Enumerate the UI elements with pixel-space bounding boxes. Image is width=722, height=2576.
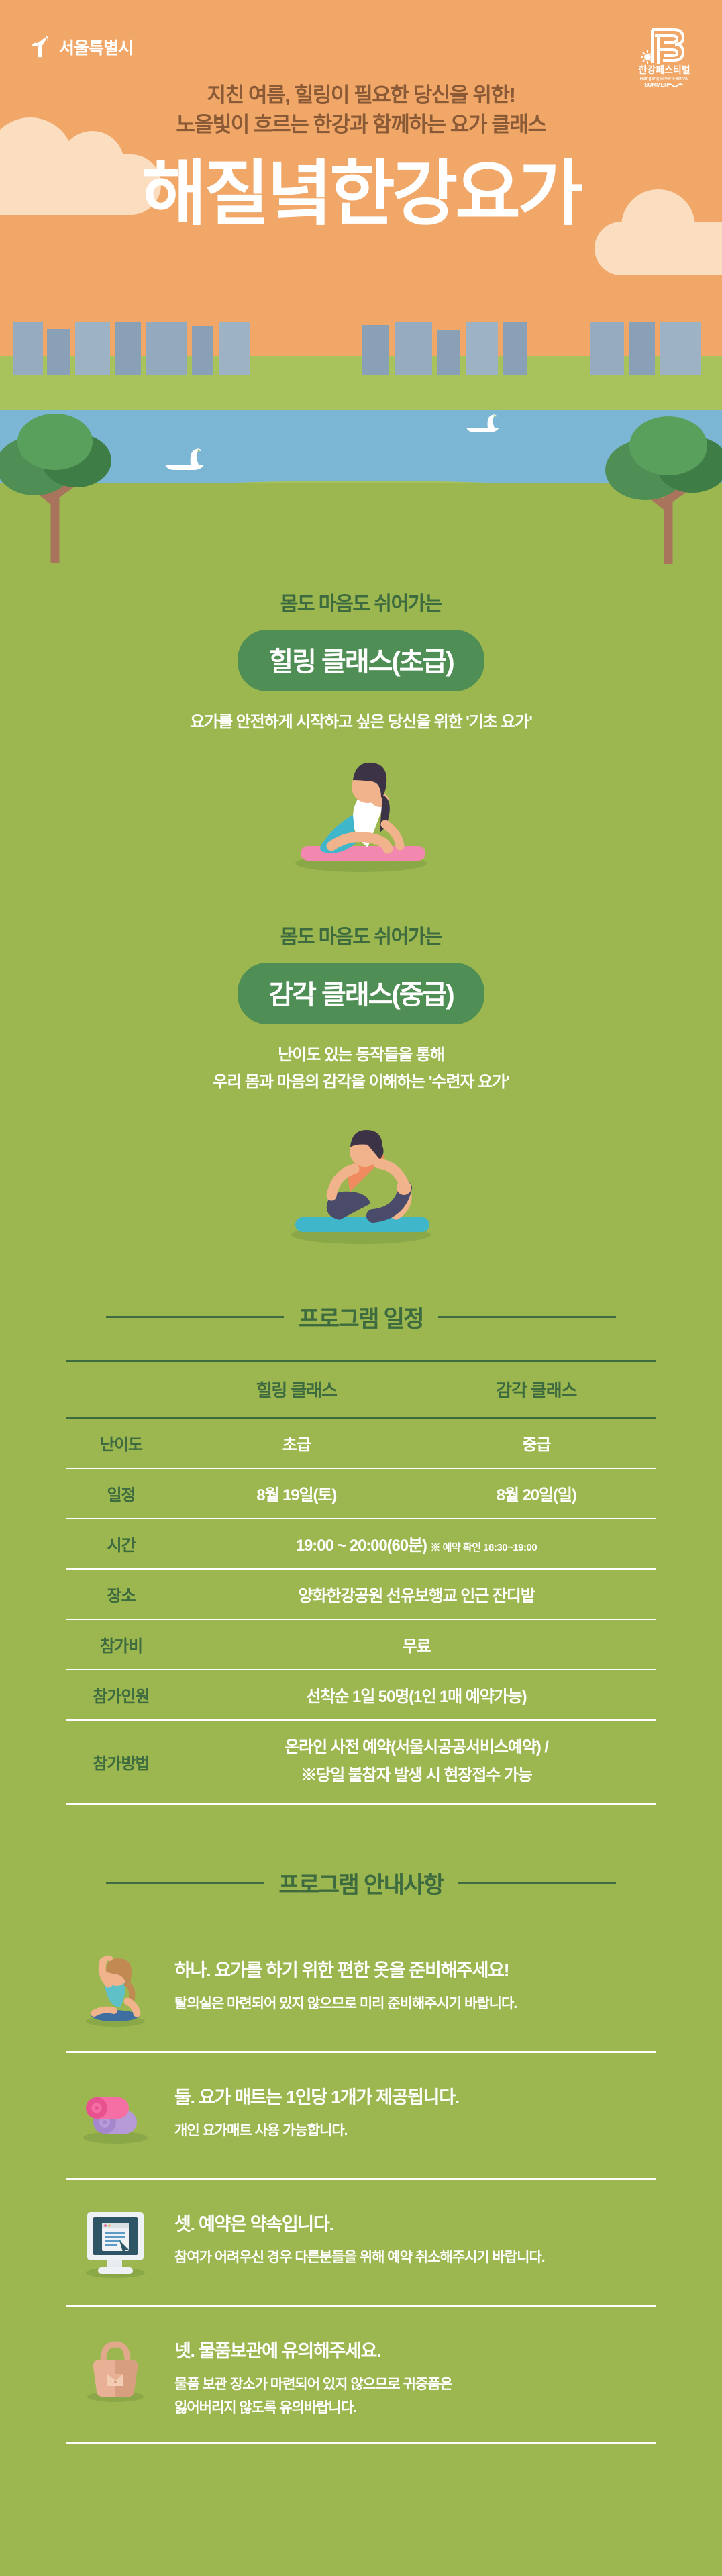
cell-value: 19:00 ~ 20:00(60분)	[296, 1537, 427, 1555]
class-desc-line: 난이도 있는 동작들을 통해	[0, 1042, 722, 1069]
notice-line: 물품 보관 장소가 마련되어 있지 않으므로 귀중품은	[174, 2373, 452, 2396]
tree-icon	[0, 395, 127, 563]
swan-boat-icon	[161, 442, 211, 471]
notice-body: 둘. 요가 매트는 1인당 1개가 제공됩니다. 개인 요가매트 사용 가능합니…	[174, 2076, 459, 2142]
col-header-blank	[66, 1362, 176, 1418]
cell-value-line2: ※당일 불참자 발생 시 현장접수 가능	[180, 1762, 652, 1790]
building	[503, 322, 527, 375]
class-desc-line: 요가를 안전하게 시작하고 싶은 당신을 위한 '기초 요가'	[0, 709, 722, 736]
row-label: 참가방법	[66, 1720, 176, 1804]
notice-item: 넷. 물품보관에 유의해주세요. 물품 보관 장소가 마련되어 있지 않으므로 …	[66, 2307, 656, 2444]
notice-body: 하나. 요가를 하기 위한 편한 옷을 준비해주세요! 탈의실은 마련되어 있지…	[174, 1949, 517, 2015]
cell-note: ※ 예약 확인 18:30~19:00	[430, 1542, 537, 1554]
heading-rule-left	[106, 1316, 284, 1318]
hangang-festival-logo: 한강페스티벌 Hangang River Festival SUMMER	[632, 23, 697, 90]
row-label: 일정	[66, 1468, 176, 1519]
seoul-logo-mark	[30, 36, 54, 58]
notice-icon-wrap	[75, 1949, 156, 2028]
seoul-logo-text: 서울특별시	[59, 35, 133, 59]
cell-sensory: 8월 20일(일)	[416, 1468, 656, 1519]
cell-merged: 무료	[176, 1619, 656, 1670]
class-eyebrow: 몸도 마음도 쉬어가는	[0, 588, 722, 616]
seoul-city-logo: 서울특별시	[30, 35, 133, 59]
notice-title: 넷. 물품보관에 유의해주세요.	[174, 2336, 452, 2363]
cell-merged: 온라인 사전 예약(서울시공공서비스예약) / ※당일 불참자 발생 시 현장접…	[176, 1720, 656, 1804]
building	[362, 325, 389, 375]
notices-list: 하나. 요가를 하기 위한 편한 옷을 준비해주세요! 탈의실은 마련되어 있지…	[66, 1926, 656, 2444]
cell-healing: 8월 19일(토)	[176, 1468, 416, 1519]
notice-body: 넷. 물품보관에 유의해주세요. 물품 보관 장소가 마련되어 있지 않으므로 …	[174, 2330, 452, 2419]
building	[437, 330, 460, 375]
festival-title-en: Hangang River Festival	[640, 77, 689, 81]
schedule-heading-text: 프로그램 일정	[299, 1300, 423, 1333]
building	[629, 322, 655, 375]
notice-title: 둘. 요가 매트는 1인당 1개가 제공됩니다.	[174, 2083, 459, 2109]
building	[192, 326, 213, 375]
building	[219, 322, 250, 375]
yoga-figure-healing-wrap	[0, 740, 722, 881]
header-subtitle-line1: 지친 여름, 힐링이 필요한 당신을 위한!	[0, 81, 722, 110]
notice-line: 잃어버리지 않도록 유의바랍니다.	[174, 2397, 452, 2420]
notice-item: 셋. 예약은 약속입니다. 참여가 어려우신 경우 다른분들을 위해 예약 취소…	[66, 2180, 656, 2307]
heading-rule-left	[106, 1882, 264, 1884]
table-row: 시간 19:00 ~ 20:00(60분) ※ 예약 확인 18:30~19:0…	[66, 1519, 656, 1569]
table-row: 장소 양화한강공원 선유보행교 인근 잔디밭	[66, 1569, 656, 1619]
notice-icon-wrap	[75, 2076, 156, 2155]
building	[13, 322, 43, 375]
class-block-healing: 몸도 마음도 쉬어가는 힐링 클래스(초급) 요가를 안전하게 시작하고 싶은 …	[0, 564, 722, 881]
heading-rule-right	[438, 1316, 616, 1318]
yoga-mat-icon	[75, 2076, 156, 2155]
yoga-seated-stretch-icon	[267, 745, 455, 879]
class-block-sensory: 몸도 마음도 쉬어가는 감각 클래스(중급) 난이도 있는 동작들을 통해 우리…	[0, 881, 722, 1254]
sun-icon	[641, 50, 654, 64]
building	[47, 329, 70, 375]
building	[146, 322, 187, 375]
yoga-sitting-icon	[75, 1949, 156, 2028]
poster-header: 서울특별시 한강페스티벌 Hangang River Festival SUMM…	[0, 0, 722, 322]
table-row: 참가방법 온라인 사전 예약(서울시공공서비스예약) / ※당일 불참자 발생 …	[66, 1720, 656, 1804]
header-subtitle-line2: 노을빛이 흐르는 한강과 함께하는 요가 클래스	[0, 110, 722, 140]
notice-body: 셋. 예약은 약속입니다. 참여가 어려우신 경우 다른분들을 위해 예약 취소…	[174, 2203, 545, 2269]
notices-heading-text: 프로그램 안내사항	[278, 1866, 443, 1899]
schedule-table-head: 힐링 클래스 감각 클래스	[66, 1362, 656, 1418]
cell-merged: 19:00 ~ 20:00(60분) ※ 예약 확인 18:30~19:00	[176, 1519, 656, 1569]
poster-root: 서울특별시 한강페스티벌 Hangang River Festival SUMM…	[0, 0, 722, 2576]
yoga-king-pigeon-icon	[260, 1102, 462, 1253]
notice-title: 하나. 요가를 하기 위한 편한 옷을 준비해주세요!	[174, 1956, 517, 1982]
row-label: 참가인원	[66, 1670, 176, 1720]
class-desc-line: 우리 몸과 마음의 감각을 이해하는 '수련자 요가'	[0, 1069, 722, 1096]
building	[115, 322, 141, 375]
class-pill-healing: 힐링 클래스(초급)	[238, 630, 484, 691]
building	[75, 322, 110, 375]
schedule-table-body: 난이도 초급 중급 일정 8월 19일(토) 8월 20일(일) 시간 19:0…	[66, 1418, 656, 1804]
festival-title-ko: 한강페스티벌	[638, 64, 690, 75]
row-label: 시간	[66, 1519, 176, 1569]
building	[660, 322, 701, 375]
yoga-figure-sensory-wrap	[0, 1099, 722, 1253]
notice-title: 셋. 예약은 약속입니다.	[174, 2209, 545, 2236]
notice-icon-wrap	[75, 2330, 156, 2409]
table-header-row: 힐링 클래스 감각 클래스	[66, 1362, 656, 1418]
heading-rule-right	[458, 1882, 616, 1884]
cell-merged: 선착순 1일 50명(1인 1매 예약가능)	[176, 1670, 656, 1720]
class-description: 요가를 안전하게 시작하고 싶은 당신을 위한 '기초 요가'	[0, 709, 722, 736]
col-header-sensory: 감각 클래스	[416, 1362, 656, 1418]
table-row: 참가비 무료	[66, 1619, 656, 1670]
bag-icon	[75, 2330, 156, 2409]
hangang-scene-illustration	[0, 322, 722, 564]
cell-healing: 초급	[176, 1418, 416, 1469]
class-description: 난이도 있는 동작들을 통해 우리 몸과 마음의 감각을 이해하는 '수련자 요…	[0, 1042, 722, 1096]
building	[466, 322, 498, 375]
cell-value-line1: 온라인 사전 예약(서울시공공서비스예약) /	[180, 1733, 652, 1762]
class-eyebrow: 몸도 마음도 쉬어가는	[0, 921, 722, 949]
swan-boat-icon	[463, 408, 505, 434]
notice-item: 둘. 요가 매트는 1인당 1개가 제공됩니다. 개인 요가매트 사용 가능합니…	[66, 2053, 656, 2180]
table-row: 일정 8월 19일(토) 8월 20일(일)	[66, 1468, 656, 1519]
cell-merged: 양화한강공원 선유보행교 인근 잔디밭	[176, 1569, 656, 1619]
monitor-icon	[75, 2203, 156, 2282]
notice-icon-wrap	[75, 2203, 156, 2282]
notices-section-heading: 프로그램 안내사항	[106, 1866, 616, 1899]
table-row: 난이도 초급 중급	[66, 1418, 656, 1469]
poster-body: 몸도 마음도 쉬어가는 힐링 클래스(초급) 요가를 안전하게 시작하고 싶은 …	[0, 564, 722, 2471]
notice-line: 참여가 어려우신 경우 다른분들을 위해 예약 취소해주시기 바랍니다.	[174, 2246, 545, 2269]
row-label: 장소	[66, 1569, 176, 1619]
building	[590, 322, 624, 375]
row-label: 난이도	[66, 1418, 176, 1469]
cell-sensory: 중급	[416, 1418, 656, 1469]
festival-season: SUMMER	[644, 82, 668, 88]
poster-main-title: 해질녘한강요가	[0, 158, 722, 230]
notice-item: 하나. 요가를 하기 위한 편한 옷을 준비해주세요! 탈의실은 마련되어 있지…	[66, 1926, 656, 2053]
cloud-shape	[595, 222, 722, 275]
table-row: 참가인원 선착순 1일 50명(1인 1매 예약가능)	[66, 1670, 656, 1720]
building	[395, 322, 432, 375]
header-subtitle: 지친 여름, 힐링이 필요한 당신을 위한! 노을빛이 흐르는 한강과 함께하는…	[0, 81, 722, 140]
col-header-healing: 힐링 클래스	[176, 1362, 416, 1418]
tree-icon	[595, 397, 722, 564]
notice-line: 탈의실은 마련되어 있지 않으므로 미리 준비해주시기 바랍니다.	[174, 1993, 517, 2015]
class-pill-sensory: 감각 클래스(중급)	[238, 963, 484, 1024]
notice-line: 개인 요가매트 사용 가능합니다.	[174, 2119, 459, 2142]
row-label: 참가비	[66, 1619, 176, 1670]
schedule-table: 힐링 클래스 감각 클래스 난이도 초급 중급 일정 8월 19일(토) 8월 …	[66, 1360, 656, 1805]
schedule-section-heading: 프로그램 일정	[106, 1300, 616, 1333]
